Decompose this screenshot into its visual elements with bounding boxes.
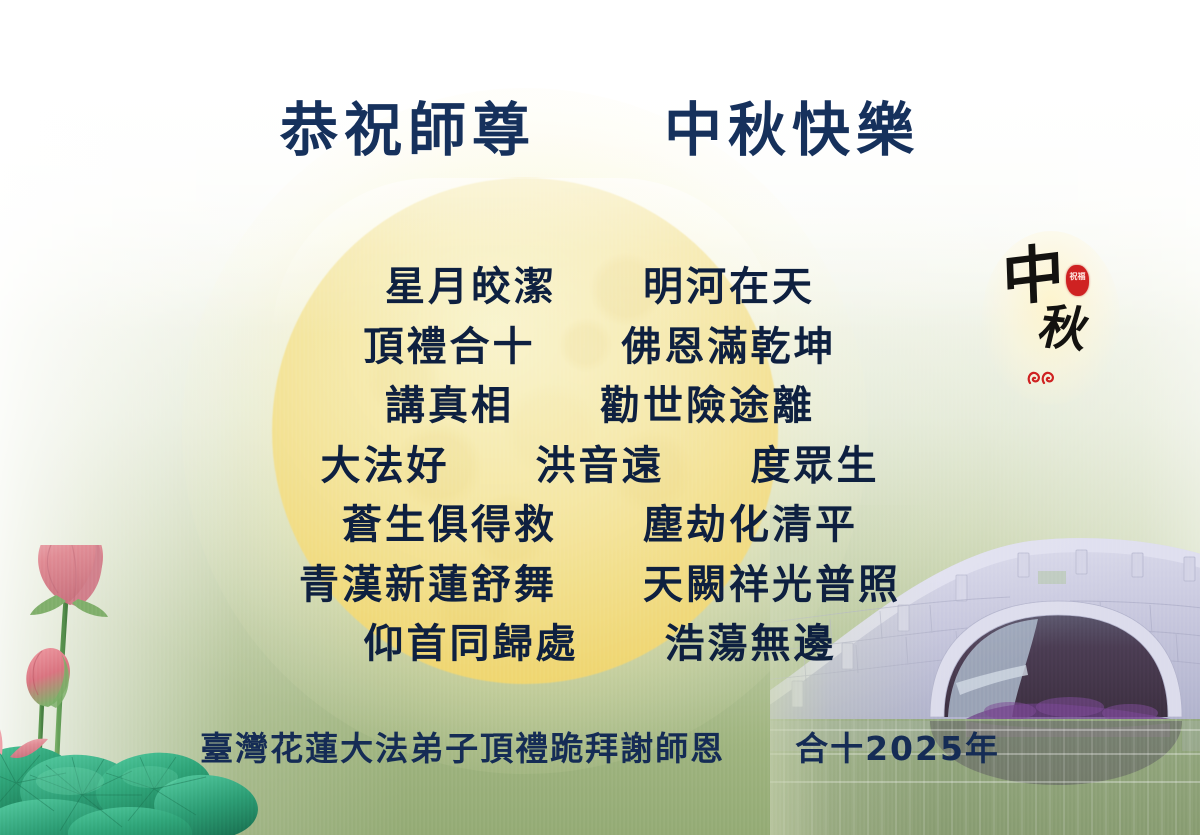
poem-line: 頂禮合十 佛恩滿乾坤 [0, 318, 1200, 378]
poem-block: 星月皎潔 明河在天 頂禮合十 佛恩滿乾坤 講真相 勸世險途離 大法好 洪音遠 度… [0, 258, 1200, 675]
poem-line: 青漢新蓮舒舞 天闕祥光普照 [0, 556, 1200, 616]
poem-line: 蒼生俱得救 塵劫化清平 [0, 496, 1200, 556]
poem-line: 大法好 洪音遠 度眾生 [0, 437, 1200, 497]
poem-line: 星月皎潔 明河在天 [0, 258, 1200, 318]
signature-line: 臺灣花蓮大法弟子頂禮跪拜謝師恩 合十2025年 [0, 722, 1200, 770]
poem-line: 仰首同歸處 浩蕩無邊 [0, 615, 1200, 675]
poem-line: 講真相 勸世險途離 [0, 377, 1200, 437]
greeting-title: 恭祝師尊 中秋快樂 [0, 100, 1200, 161]
greeting-card: 中 秋 祝福 恭祝師尊 中秋快樂 星月皎潔 明河在天 頂禮合十 佛恩滿乾坤 講真… [0, 0, 1200, 835]
